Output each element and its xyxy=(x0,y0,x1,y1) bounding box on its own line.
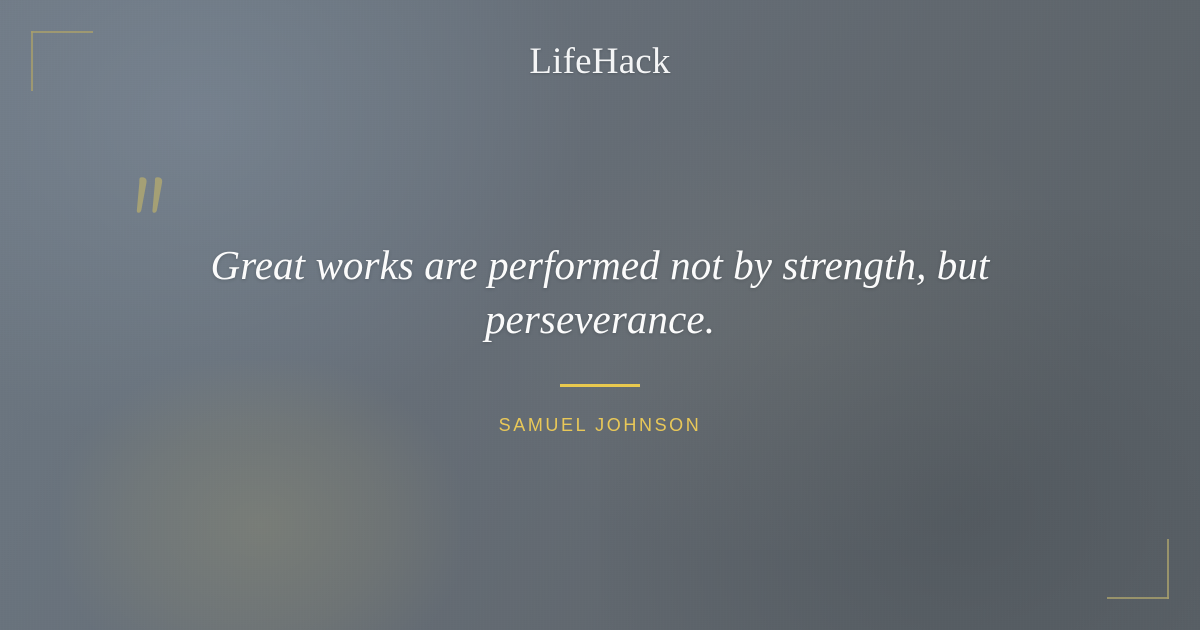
quote-body: Great works are performed not by strengt… xyxy=(180,238,1020,346)
brand-logo: LifeHack xyxy=(0,40,1200,84)
quote-author: SAMUEL JOHNSON xyxy=(0,412,1200,438)
quote-card: LifeHack Great works are performed not b… xyxy=(0,0,1200,630)
quote-text: Great works are performed not by strengt… xyxy=(180,238,1020,346)
author-divider xyxy=(560,384,640,387)
